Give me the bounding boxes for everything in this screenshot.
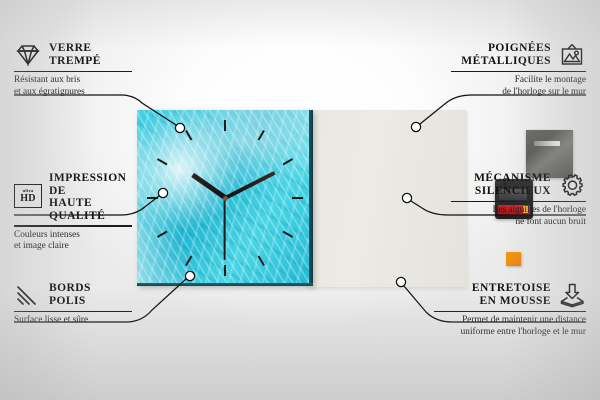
- second-hand: [224, 198, 226, 260]
- clock-tick: [157, 158, 168, 165]
- callout-bords-polis: BORDS POLIS Surface lisse et sûre: [14, 282, 132, 327]
- infographic-canvas: VERRE TREMPÉ Résistant aux bris et aux é…: [0, 0, 600, 400]
- callout-impression-haute-qualite: ultra HD IMPRESSION DE HAUTE QUALITÉ Cou…: [14, 172, 132, 252]
- callout-mecanisme-silencieux: MÉCANISME SILENCIEUX Les aiguilles de l'…: [451, 172, 586, 228]
- callout-description: Résistant aux bris et aux égratignures: [14, 75, 132, 97]
- gear-icon: [558, 172, 586, 198]
- callout-title: IMPRESSION DE HAUTE QUALITÉ: [49, 172, 132, 222]
- callout-title: POIGNÉES MÉTALLIQUES: [461, 42, 551, 67]
- callout-divider: [14, 71, 132, 72]
- callout-header: BORDS POLIS: [14, 282, 132, 308]
- callout-header: ultra HD IMPRESSION DE HAUTE QUALITÉ: [14, 172, 132, 222]
- callout-divider: [451, 71, 586, 72]
- callout-description: Couleurs intenses et image claire: [14, 230, 132, 252]
- callout-verre-trempe: VERRE TREMPÉ Résistant aux bris et aux é…: [14, 42, 132, 98]
- callout-header: ENTRETOISE EN MOUSSE: [434, 282, 586, 308]
- framed-picture-icon: [558, 42, 586, 68]
- callout-poignees-metalliques: POIGNÉES MÉTALLIQUES Facilite le montage…: [451, 42, 586, 98]
- press-down-pad-icon: [558, 282, 586, 308]
- clock-tick: [185, 130, 192, 141]
- clock-tick: [224, 265, 226, 276]
- callout-description: Les aiguilles de l'horloge ne font aucun…: [451, 205, 586, 227]
- callout-description: Permet de maintenir une distance uniform…: [434, 315, 586, 337]
- hanger-slot: [534, 141, 560, 146]
- callout-title: BORDS POLIS: [49, 282, 91, 307]
- diamond-icon: [14, 42, 42, 68]
- product-image: [137, 110, 467, 290]
- metal-hanger-plate: [526, 130, 573, 178]
- clock-center-pin: [223, 196, 228, 201]
- clock-tick: [147, 197, 158, 199]
- back-panel: [307, 110, 467, 287]
- callout-entretoise-en-mousse: ENTRETOISE EN MOUSSE Permet de maintenir…: [434, 282, 586, 338]
- callout-title: MÉCANISME SILENCIEUX: [474, 172, 551, 197]
- clock-tick: [283, 231, 294, 238]
- polished-edge-icon: [14, 282, 42, 308]
- callout-divider: [451, 201, 586, 202]
- callout-header: MÉCANISME SILENCIEUX: [451, 172, 586, 198]
- clock-tick: [283, 158, 294, 165]
- clock-tick: [157, 231, 168, 238]
- callout-divider: [14, 225, 132, 226]
- clock-tick: [292, 197, 303, 199]
- callout-header: VERRE TREMPÉ: [14, 42, 132, 68]
- callout-description: Facilite le montage de l'horloge sur le …: [451, 75, 586, 97]
- ultra-hd-icon: ultra HD: [14, 184, 42, 210]
- foam-spacer: [506, 252, 521, 266]
- callout-description: Surface lisse et sûre: [14, 315, 132, 326]
- ultra-hd-large-text: HD: [20, 194, 36, 204]
- glass-clock-panel: [137, 110, 313, 286]
- callout-divider: [14, 311, 132, 312]
- callout-divider: [434, 311, 586, 312]
- clock-tick: [224, 120, 226, 131]
- panel-edge-right: [309, 110, 313, 286]
- panel-edge-bottom: [137, 283, 313, 286]
- clock-tick: [258, 256, 265, 267]
- clock-tick: [258, 130, 265, 141]
- callout-title: VERRE TREMPÉ: [49, 42, 101, 67]
- callout-title: ENTRETOISE EN MOUSSE: [472, 282, 551, 307]
- callout-header: POIGNÉES MÉTALLIQUES: [451, 42, 586, 68]
- clock-tick: [185, 256, 192, 267]
